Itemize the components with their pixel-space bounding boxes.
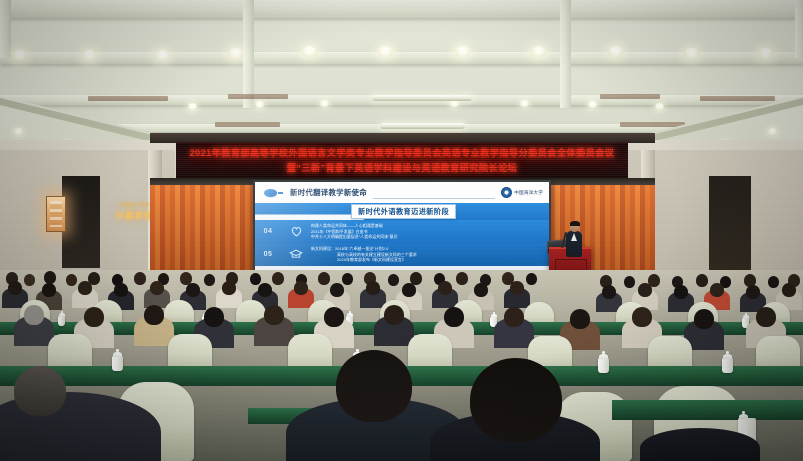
ceiling-downlight [758,48,773,59]
banner-line-1: 2021年教育部高等学校外国语言文学类专业教学指导委员会英语专业教学指导分委员会… [190,146,615,161]
ceiling-beam [0,52,803,64]
university-logo-name: 中国海洋大学 [514,190,543,196]
audience-head [324,307,344,327]
ceiling-downlight [188,103,197,110]
audience-head [456,272,468,285]
foreground-person-far-right [640,428,760,461]
audience-head [330,283,344,297]
foreground-head-left [14,366,66,416]
ceiling-downlight [320,100,329,107]
ceiling-downlight [12,50,27,61]
foreground-head-center [336,350,412,422]
audience-head [526,273,537,285]
ceiling-vent [700,96,775,101]
audience-head [24,274,35,286]
slide-row-number: 04 [255,228,281,235]
audience-head [272,272,284,285]
audience-head [384,305,404,325]
slide-row-line: 中共十八大明确提出要促进“人类命运共同体”意识 [311,234,543,239]
teacup [722,358,733,373]
wall-recess-left [62,176,100,268]
slide-row: 04 构建人类命运共同体——人心相通是基础 2011年《中国和平发展》白皮书 中… [255,220,549,243]
audience-head [342,273,353,285]
audience-head [694,309,714,329]
ceiling-light-fixture [380,123,465,129]
teacup [58,316,65,326]
audience-head [388,274,399,286]
slide-headline-badge: 新时代外语教育迈进新阶段 [351,204,456,219]
hotel-logo-chinese: 兴嘉宾馆 [116,210,154,221]
audience-head [602,285,616,299]
slide-bullet-tail-icon [278,192,283,194]
ceiling-rib [243,0,254,108]
audience-head [632,307,652,327]
ceiling-vent [620,122,685,127]
hotel-logo-english: Xingjia Hotel [119,202,151,208]
ceiling-downlight [455,46,470,57]
ceiling-downlight [228,48,243,59]
audience-head [186,283,200,297]
graduation-cap-icon [281,249,311,260]
ceiling-beam [0,0,803,18]
slide-row-text: 新文科建设：2018年“六卓越一拔尖”计划2.0 高校与高校的有关建立建设新文科… [311,246,549,262]
university-logo: 中国海洋大学 [501,187,543,198]
audience-head [768,276,779,288]
audience-head [746,285,760,299]
audience-head [366,281,380,295]
audience-head [24,305,44,325]
ceiling-vent [215,122,280,127]
projection-screen: 新时代翻译教学新使命 中国海洋大学 新时代外语教育迈进新阶段 04 构建人类命运… [255,182,549,274]
audience-head [114,283,128,297]
banner-line-2: 暨“三新”背景下英语学科建设与英语教育研究院长论坛 [287,161,518,176]
audience-head [438,281,452,295]
slide-header: 新时代翻译教学新使命 中国海洋大学 [255,182,549,204]
audience-head [134,272,146,285]
audience-head [444,307,464,327]
ceiling-downlight [531,46,546,57]
led-banner: 2021年教育部高等学校外国语言文学类专业教学指导委员会英语专业教学指导分委员会… [176,142,628,180]
foreground-head-right [470,358,562,442]
ceiling-vent [600,94,660,99]
conference-hall-photograph: Xingjia Hotel 兴嘉宾馆 2021年教育部高等学校外国语言文学类专业… [0,0,803,461]
ceiling-downlight [608,46,623,57]
ceiling-downlight [768,128,777,135]
speaker-hair [570,221,580,226]
audience-head [782,283,796,297]
audience-head [402,283,416,297]
audience-head [624,276,635,288]
conference-table [612,400,803,420]
teacup [112,356,123,371]
ceiling-downlight [655,103,664,110]
slide-row-text: 构建人类命运共同体——人心相通是基础 2011年《中国和平发展》白皮书 中共十八… [311,223,549,239]
projection-screen-frame: 新时代翻译教学新使命 中国海洋大学 新时代外语教育迈进新阶段 04 构建人类命运… [253,180,551,276]
ceiling-downlight [82,50,97,61]
slide-row-number: 05 [255,251,281,258]
wall-recess-right [709,176,751,272]
ceiling-vent [88,96,168,101]
audience-head [264,305,284,325]
audience-head [756,307,776,327]
audience-head [710,283,724,297]
audience-head [222,281,236,295]
ceiling-rib [0,0,11,58]
audience-head [510,281,524,295]
audience-head [504,307,524,327]
audience-head [8,281,22,295]
university-seal-icon [501,187,512,198]
heart-icon [281,226,311,237]
ceiling-downlight [378,46,393,57]
audience-head [204,274,215,286]
audience-head [696,274,708,287]
slide-bullet-icon [264,189,277,197]
audience-head [638,283,652,297]
slide-header-title: 新时代翻译教学新使命 [290,187,367,198]
slide-header-rule [373,198,495,199]
wall-sconce-light [46,196,66,232]
audience-head [674,285,688,299]
ceiling-downlight [155,50,170,61]
audience-head [150,281,164,295]
ceiling-light-fixture [372,95,472,101]
audience-head [78,281,92,295]
ceiling-rib [560,0,571,108]
audience-head [250,273,261,285]
audience-head [474,283,488,297]
audience-head [144,305,164,325]
ceiling-downlight [255,101,264,108]
ceiling-downlight [520,100,529,107]
slide-row: 05 新文科建设：2018年“六卓越一拔尖”计划2.0 高校与高校的有关建立建设… [255,243,549,266]
audience-head [570,309,590,329]
teacup [598,358,609,373]
audience-head [84,307,104,327]
ceiling-downlight [14,128,23,135]
audience-head [294,281,308,295]
audience-head [42,283,56,297]
ceiling-downlight [588,101,597,108]
audience-head [44,271,56,284]
ceiling-rib [795,0,803,58]
audience-head [318,272,330,285]
audience-head [66,274,77,286]
ceiling-downlight [450,100,459,107]
slide-row-line: 2020年教育部发布《新文科建设宣言》 [311,257,543,262]
ceiling-vent [228,94,288,99]
ceiling-downlight [684,48,699,59]
ceiling-downlight [302,46,317,57]
audience-head [204,307,224,327]
audience-head [258,283,272,297]
